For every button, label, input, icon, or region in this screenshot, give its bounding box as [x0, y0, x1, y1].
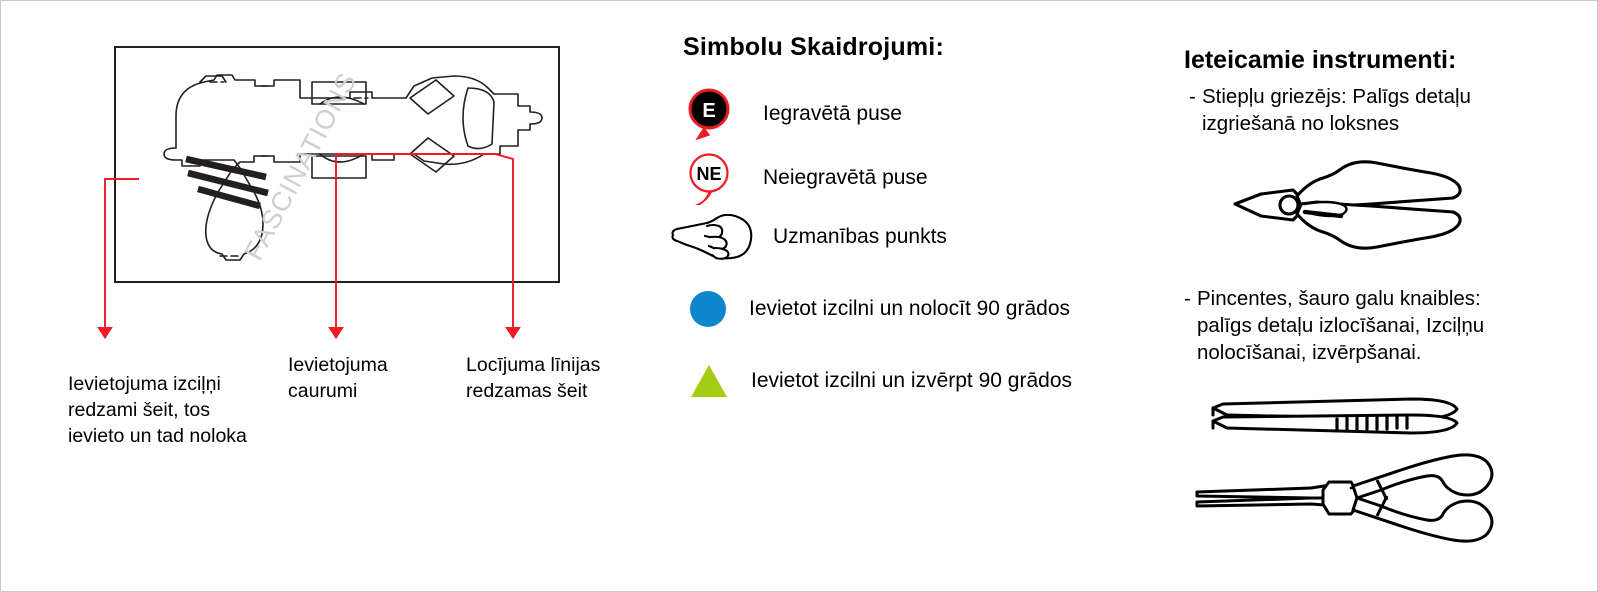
- bullet-dash: -: [1189, 83, 1196, 110]
- legend-item-engraved: E Iegravētā puse: [685, 87, 902, 141]
- legend-label-twist-90: Ievietot izcilni un izvērpt 90 grādos: [751, 369, 1072, 393]
- non-engraved-side-bubble-icon: NE: [685, 151, 733, 205]
- green-triangle-icon: [689, 363, 729, 399]
- legend-title: Simbolu Skaidrojumi:: [683, 33, 944, 62]
- tool-entry-text: Stiepļu griezējs: Palīgs detaļu izgrieša…: [1189, 83, 1509, 137]
- legend-label-fold-90: Ievietot izcilni un nolocīt 90 grādos: [749, 297, 1070, 321]
- legend-label-engraved: Iegravētā puse: [763, 102, 902, 126]
- symbol-legend-panel: Simbolu Skaidrojumi: E Iegravētā puse NE…: [661, 1, 1181, 592]
- bullet-dash: -: [1184, 285, 1191, 312]
- needle-nose-pliers-icon: [1191, 444, 1511, 554]
- legend-label-non-engraved: Neiegravētā puse: [763, 166, 928, 190]
- pointing-hand-icon: [667, 214, 755, 260]
- legend-item-twist-90: Ievietot izcilni un izvērpt 90 grādos: [689, 363, 1072, 399]
- engraved-symbol-letter: E: [702, 100, 715, 122]
- instruction-sheet: FASCINATIONS Ievietojuma izciļņi redzami…: [0, 0, 1598, 592]
- legend-item-non-engraved: NE Neiegravētā puse: [685, 151, 928, 205]
- tool-entry-pliers: - Pincentes, šauro galu knaibles: palīgs…: [1184, 285, 1514, 366]
- legend-item-attention: Uzmanības punkts: [667, 214, 947, 260]
- wire-cutter-icon: [1231, 156, 1481, 261]
- callout-text-holes: Ievietojuma caurumi: [288, 352, 458, 404]
- legend-item-fold-90: Ievietot izcilni un nolocīt 90 grādos: [689, 290, 1070, 328]
- recommended-tools-panel: Ieteicamie instrumenti: - Stiepļu griezē…: [1181, 1, 1598, 592]
- callout-text-tabs: Ievietojuma izciļņi redzami šeit, tos ie…: [68, 371, 268, 449]
- engraved-side-bubble-icon: E: [685, 87, 733, 141]
- blue-circle-icon: [689, 290, 727, 328]
- tool-entry-wire-cutter: - Stiepļu griezējs: Palīgs detaļu izgrie…: [1189, 83, 1509, 137]
- tools-title: Ieteicamie instrumenti:: [1184, 46, 1456, 75]
- tweezers-icon: [1201, 389, 1501, 447]
- callout-text-fold-lines: Locījuma līnijas redzamas šeit: [466, 352, 656, 404]
- legend-label-attention: Uzmanības punkts: [773, 225, 947, 249]
- drawing-panel: FASCINATIONS Ievietojuma izciļņi redzami…: [1, 1, 661, 592]
- tool-entry-text: Pincentes, šauro galu knaibles: palīgs d…: [1184, 285, 1514, 366]
- non-engraved-symbol-letters: NE: [696, 164, 721, 184]
